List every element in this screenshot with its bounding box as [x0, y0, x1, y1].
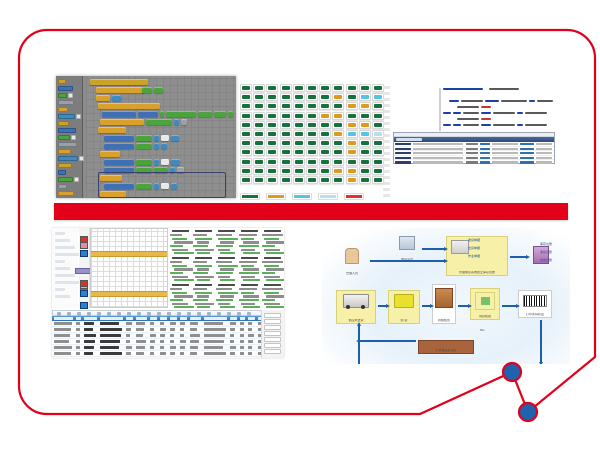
code-token	[493, 124, 515, 126]
block[interactable]	[96, 87, 144, 93]
gantt-annotation-cards	[170, 228, 284, 308]
status-tile[interactable]	[293, 167, 305, 175]
status-tile[interactable]	[306, 93, 318, 101]
status-tile[interactable]	[280, 176, 292, 184]
annotation-title	[195, 257, 212, 259]
status-tile[interactable]	[346, 121, 358, 129]
status-tile[interactable]	[319, 130, 331, 138]
status-tile[interactable]	[319, 158, 331, 166]
table-cell	[180, 352, 184, 354]
table-column-header[interactable]	[190, 317, 201, 320]
block[interactable]	[100, 119, 144, 125]
flow-node-open-carton[interactable]: 拆箱检查	[432, 284, 456, 324]
block[interactable]	[154, 135, 159, 141]
block[interactable]	[104, 135, 134, 141]
gantt-node-rail[interactable]	[79, 228, 90, 308]
toolbox-block[interactable]	[58, 114, 75, 119]
toolbox-block[interactable]	[58, 149, 71, 154]
status-tile[interactable]	[240, 158, 252, 166]
flow-node-supplier-delivery[interactable]: 供应商送货	[336, 290, 376, 324]
status-tile[interactable]	[319, 121, 331, 129]
table-column-header[interactable]	[240, 317, 245, 320]
gantt-node[interactable]	[80, 302, 88, 309]
annotation-line	[220, 279, 235, 281]
annotation-line	[197, 241, 209, 243]
table-cell	[230, 346, 236, 348]
flow-node-reject-area[interactable]: 不合格品暂存区	[418, 340, 474, 354]
table-side-button[interactable]	[264, 343, 281, 348]
status-tile[interactable]	[319, 112, 331, 120]
table-cell	[204, 328, 226, 330]
log-console[interactable]	[393, 132, 555, 164]
block[interactable]	[174, 119, 179, 125]
status-tile[interactable]	[280, 102, 292, 110]
block[interactable]	[154, 87, 163, 93]
toolbox-block[interactable]	[58, 191, 74, 196]
tile-fill	[348, 169, 356, 173]
status-tile[interactable]	[253, 93, 265, 101]
tile-fill	[308, 160, 316, 164]
block[interactable]	[138, 111, 158, 117]
table-side-buttons[interactable]	[261, 310, 284, 358]
status-tile[interactable]	[359, 130, 371, 138]
table-cell	[190, 346, 198, 348]
table-column-header[interactable]	[54, 317, 73, 320]
status-tile[interactable]	[240, 121, 252, 129]
side-tick	[383, 170, 390, 173]
status-tile[interactable]	[253, 167, 265, 175]
table-side-button[interactable]	[264, 313, 281, 318]
table-side-button[interactable]	[264, 337, 281, 342]
side-tick	[383, 110, 390, 113]
side-tick	[383, 116, 390, 119]
status-tile[interactable]	[266, 167, 278, 175]
side-tick	[383, 152, 390, 155]
status-tile[interactable]	[359, 167, 371, 175]
status-tile[interactable]	[266, 121, 278, 129]
table-column-header[interactable]	[248, 317, 255, 320]
code-token	[481, 112, 491, 114]
table-side-button[interactable]	[264, 331, 281, 336]
status-tile[interactable]	[319, 167, 331, 175]
blocks-canvas[interactable]	[86, 76, 236, 198]
block[interactable]	[136, 135, 152, 141]
block[interactable]	[166, 111, 196, 117]
status-tile[interactable]	[266, 102, 278, 110]
status-tile[interactable]	[332, 167, 344, 175]
legend-swatch-fill	[268, 195, 284, 198]
block[interactable]	[161, 143, 167, 149]
status-tile[interactable]	[253, 139, 265, 147]
toolbox-block[interactable]	[58, 100, 74, 105]
toolbox-block[interactable]	[79, 156, 84, 161]
status-tile[interactable]	[359, 148, 371, 156]
tile-fill	[242, 132, 250, 136]
status-tile[interactable]	[293, 112, 305, 120]
status-tile[interactable]	[359, 121, 371, 129]
tile-fill	[308, 132, 316, 136]
status-tile[interactable]	[240, 167, 252, 175]
block[interactable]	[154, 159, 159, 165]
flow-node-label: 卸 货	[389, 319, 419, 322]
status-tile[interactable]	[359, 84, 371, 92]
table-cell	[136, 322, 145, 324]
truck-icon	[343, 294, 369, 308]
toolbox-block[interactable]	[58, 93, 67, 98]
block[interactable]	[181, 119, 187, 125]
status-tile[interactable]	[306, 158, 318, 166]
table-column-header[interactable]	[76, 317, 81, 320]
block[interactable]	[171, 159, 180, 165]
annotation-card	[170, 230, 191, 256]
status-tile[interactable]	[306, 121, 318, 129]
block[interactable]	[171, 135, 179, 141]
flow-node-label: 到货检验	[471, 315, 499, 318]
annotation-line	[220, 295, 234, 297]
status-tile[interactable]	[240, 93, 252, 101]
block[interactable]	[198, 111, 212, 117]
block[interactable]	[136, 159, 152, 165]
status-tile[interactable]	[332, 112, 344, 120]
status-tile[interactable]	[346, 148, 358, 156]
status-tile[interactable]	[253, 84, 265, 92]
toolbox-block[interactable]	[68, 93, 73, 98]
code-token	[525, 112, 547, 114]
status-tile[interactable]	[332, 121, 344, 129]
status-tile[interactable]	[280, 139, 292, 147]
status-tile[interactable]	[346, 130, 358, 138]
panel-code-console[interactable]	[393, 84, 555, 164]
table-cell	[76, 352, 80, 354]
annotation-title	[195, 284, 212, 286]
block[interactable]	[142, 87, 152, 93]
gantt-row-label	[55, 239, 70, 242]
gantt-row-label	[55, 267, 70, 270]
status-tile[interactable]	[253, 102, 265, 110]
tile-fill	[268, 132, 276, 136]
toolbox-block[interactable]	[58, 142, 77, 147]
toolbox-block[interactable]	[74, 177, 79, 182]
tile-fill	[374, 104, 382, 108]
status-tile[interactable]	[359, 176, 371, 184]
blocks-toolbox[interactable]	[56, 76, 83, 198]
status-tile[interactable]	[280, 121, 292, 129]
status-tile[interactable]	[293, 93, 305, 101]
status-tile[interactable]	[359, 93, 371, 101]
status-tile[interactable]	[319, 139, 331, 147]
status-tile[interactable]	[359, 139, 371, 147]
console-token	[480, 152, 490, 154]
status-tile[interactable]	[346, 167, 358, 175]
toolbox-block[interactable]	[58, 79, 66, 84]
status-tile[interactable]	[266, 93, 278, 101]
status-tile[interactable]	[280, 84, 292, 92]
toolbox-block[interactable]	[58, 128, 76, 133]
status-tile[interactable]	[280, 130, 292, 138]
status-tile[interactable]	[319, 84, 331, 92]
toolbox-block[interactable]	[58, 163, 72, 168]
status-tile[interactable]	[359, 102, 371, 110]
table-column-header[interactable]	[230, 317, 237, 320]
flow-node-print-label[interactable]: 打印条码标签	[518, 290, 552, 318]
tile-fill	[321, 132, 329, 136]
block[interactable]	[136, 143, 152, 149]
tile-fill	[282, 178, 290, 182]
computer-icon	[399, 236, 415, 250]
status-tile[interactable]	[280, 148, 292, 156]
toolbox-block[interactable]	[76, 114, 81, 119]
gantt-bar[interactable]	[91, 291, 167, 297]
status-tile[interactable]	[359, 112, 371, 120]
status-tile[interactable]	[332, 93, 344, 101]
status-tile[interactable]	[266, 158, 278, 166]
gantt-grid[interactable]	[90, 228, 168, 308]
tile-fill	[361, 114, 369, 118]
status-tile[interactable]	[293, 102, 305, 110]
status-tile[interactable]	[240, 130, 252, 138]
toolbox-block[interactable]	[58, 121, 69, 126]
block[interactable]	[112, 95, 121, 101]
tile-fill	[334, 132, 342, 136]
flow-node-warehouse-clerk[interactable]: 仓储人员	[336, 246, 368, 276]
tile-fill	[348, 178, 356, 182]
status-tile[interactable]	[253, 148, 265, 156]
inspection-icon	[475, 292, 495, 310]
code-token	[463, 112, 479, 114]
annotation-card	[239, 230, 260, 256]
code-token	[443, 112, 451, 114]
status-tile[interactable]	[253, 130, 265, 138]
status-tile[interactable]	[306, 139, 318, 147]
toolbox-block[interactable]	[58, 177, 73, 182]
status-tile[interactable]	[306, 84, 318, 92]
panel-schedule-sheet[interactable]	[52, 228, 284, 358]
toolbox-block[interactable]	[58, 86, 73, 91]
block[interactable]	[161, 135, 169, 141]
block[interactable]	[161, 159, 169, 165]
table-column-header[interactable]	[180, 317, 187, 320]
data-table[interactable]	[52, 310, 284, 358]
status-tile[interactable]	[319, 93, 331, 101]
table-column-header[interactable]	[170, 317, 177, 320]
status-tile[interactable]	[240, 84, 252, 92]
status-tile[interactable]	[332, 176, 344, 184]
flow-node-quality-check[interactable]: 到货检验	[470, 288, 500, 320]
block[interactable]	[102, 111, 136, 117]
status-tile[interactable]	[332, 148, 344, 156]
status-tile[interactable]	[280, 167, 292, 175]
flow-arrowhead	[430, 304, 434, 308]
table-row[interactable]	[52, 357, 284, 358]
tile-fill	[295, 150, 303, 154]
status-tile[interactable]	[346, 176, 358, 184]
status-tile[interactable]	[319, 102, 331, 110]
table-column-header[interactable]	[150, 317, 157, 320]
table-cell	[126, 340, 130, 342]
annotation-card	[193, 230, 214, 256]
tile-fill	[308, 169, 316, 173]
status-tile[interactable]	[253, 176, 265, 184]
table-cell	[54, 328, 71, 330]
block[interactable]	[90, 79, 148, 85]
table-side-button[interactable]	[264, 319, 281, 324]
annotation-title	[264, 284, 281, 286]
status-tile[interactable]	[266, 176, 278, 184]
status-tile[interactable]	[332, 130, 344, 138]
status-tile[interactable]	[346, 93, 358, 101]
console-token	[492, 148, 518, 150]
block-selection	[98, 172, 226, 198]
gantt-node[interactable]	[80, 242, 88, 249]
toolbox-block[interactable]	[58, 184, 67, 189]
status-tile[interactable]	[293, 176, 305, 184]
status-tile[interactable]	[240, 176, 252, 184]
flow-arrow	[360, 340, 416, 342]
status-tile[interactable]	[346, 102, 358, 110]
status-tile[interactable]	[266, 112, 278, 120]
status-tile[interactable]	[332, 139, 344, 147]
toolbox-block[interactable]	[71, 135, 76, 140]
status-tile[interactable]	[319, 148, 331, 156]
status-tile[interactable]	[346, 112, 358, 120]
status-tile[interactable]	[306, 130, 318, 138]
block[interactable]	[104, 159, 134, 165]
tile-fill	[295, 141, 303, 145]
table-column-header[interactable]	[204, 317, 227, 320]
accent-dot	[519, 403, 537, 421]
code-editor[interactable]	[393, 84, 555, 131]
status-tile[interactable]	[332, 158, 344, 166]
gantt-node[interactable]	[80, 290, 88, 297]
status-tile[interactable]	[346, 84, 358, 92]
toolbox-block[interactable]	[58, 156, 78, 161]
annotation-line	[174, 279, 194, 281]
table-cell	[180, 322, 185, 324]
status-tile[interactable]	[280, 158, 292, 166]
status-tile[interactable]	[293, 148, 305, 156]
annotation-line	[170, 272, 183, 274]
table-side-button[interactable]	[264, 349, 281, 354]
status-tile[interactable]	[319, 176, 331, 184]
table-column-header[interactable]	[100, 317, 123, 320]
table-column-header[interactable]	[84, 317, 97, 320]
status-tile[interactable]	[306, 167, 318, 175]
block[interactable]	[98, 127, 126, 133]
table-cell	[190, 322, 198, 324]
side-tick	[383, 92, 390, 95]
status-tile[interactable]	[293, 130, 305, 138]
console-rows[interactable]	[394, 142, 554, 164]
table-cell	[76, 346, 80, 348]
status-tile[interactable]	[359, 158, 371, 166]
block[interactable]	[154, 143, 159, 149]
gantt-node[interactable]	[80, 250, 88, 257]
status-tile[interactable]	[240, 139, 252, 147]
flow-arrowhead	[468, 304, 472, 308]
console-token	[466, 143, 478, 145]
flow-node-unloading[interactable]: 卸 货	[388, 290, 420, 324]
status-tile[interactable]	[346, 139, 358, 147]
status-tile[interactable]	[293, 121, 305, 129]
table-cell	[100, 322, 119, 324]
status-tile[interactable]	[266, 84, 278, 92]
status-tile[interactable]	[266, 139, 278, 147]
status-tile[interactable]	[293, 158, 305, 166]
flow-arrow	[378, 305, 386, 307]
panel-tile-grid[interactable]	[240, 84, 390, 200]
flow-node-receiving-desk[interactable]: 收货平台	[392, 234, 422, 262]
block[interactable]	[160, 111, 164, 117]
status-tile[interactable]	[306, 102, 318, 110]
tile-fill	[282, 123, 290, 127]
annotation-title	[241, 257, 258, 259]
table-column-header[interactable]	[136, 317, 147, 320]
block[interactable]	[104, 143, 134, 149]
flow-arrowhead	[356, 339, 360, 343]
status-tile[interactable]	[240, 112, 252, 120]
status-tile[interactable]	[266, 130, 278, 138]
tile-fill	[361, 104, 369, 108]
status-tile[interactable]	[253, 112, 265, 120]
code-token	[481, 118, 491, 120]
panel-logistics-flow[interactable]: 供应商送货卸 货拆箱检查到货检验打印条码标签不合格品暂存区不合格品库入库完成上架…	[322, 228, 570, 364]
annotation-line	[243, 241, 259, 243]
toolbox-block[interactable]	[58, 135, 70, 140]
code-token	[439, 94, 441, 131]
status-tile[interactable]	[280, 112, 292, 120]
block[interactable]	[146, 119, 172, 125]
status-tile[interactable]	[253, 121, 265, 129]
status-tile[interactable]	[266, 148, 278, 156]
table-side-button[interactable]	[264, 325, 281, 330]
tile-fill	[295, 132, 303, 136]
status-tile[interactable]	[293, 84, 305, 92]
table-column-header[interactable]	[160, 317, 167, 320]
console-row[interactable]	[394, 160, 554, 164]
status-tile[interactable]	[280, 93, 292, 101]
table-column-header[interactable]	[126, 317, 133, 320]
status-tile[interactable]	[346, 158, 358, 166]
status-tile[interactable]	[306, 148, 318, 156]
gantt-node[interactable]	[75, 268, 91, 274]
flow-tag-tag-ng: NG	[480, 328, 485, 332]
block[interactable]	[96, 95, 110, 101]
status-tile[interactable]	[332, 102, 344, 110]
annotation-line	[170, 234, 182, 236]
toolbox-block[interactable]	[58, 170, 66, 175]
gantt-bar[interactable]	[91, 251, 167, 257]
status-tile[interactable]	[306, 176, 318, 184]
table-cell	[150, 334, 156, 336]
status-tile[interactable]	[332, 84, 344, 92]
status-tile[interactable]	[240, 102, 252, 110]
block[interactable]	[98, 103, 160, 109]
status-tile[interactable]	[306, 112, 318, 120]
toolbox-block[interactable]	[58, 107, 68, 112]
status-tile[interactable]	[293, 139, 305, 147]
annotation-line	[262, 245, 275, 247]
table-body[interactable]	[52, 321, 284, 358]
panel-blocks-editor[interactable]	[56, 76, 236, 198]
tile-fill	[242, 114, 250, 118]
table-cell	[54, 334, 70, 336]
annotation-line	[172, 303, 188, 305]
status-tile[interactable]	[240, 148, 252, 156]
status-tile[interactable]	[253, 158, 265, 166]
block[interactable]	[228, 111, 233, 117]
block[interactable]	[100, 151, 120, 157]
block[interactable]	[214, 111, 226, 117]
